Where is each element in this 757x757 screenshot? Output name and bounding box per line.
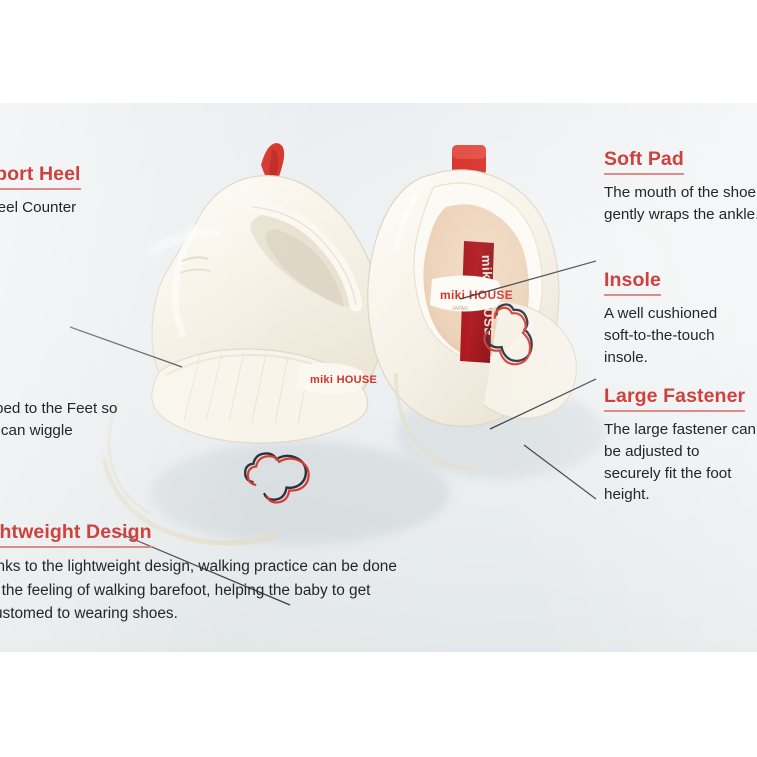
annotation-lightweight-design: Lightweight Design Thanks to the lightwe… <box>0 521 397 625</box>
annotation-body: The mouth of the shoe gently wraps the a… <box>604 182 757 225</box>
annotation-insole: Insole A well cushioned soft-to-the-touc… <box>604 269 717 368</box>
annotation-large-fastener: Large Fastener The large fastener can be… <box>604 385 756 506</box>
annotation-body: Shaped to the Feet so toes can wiggle <box>0 398 117 441</box>
svg-text:miki HOUSE: miki HOUSE <box>440 288 513 302</box>
svg-text:JAPAN: JAPAN <box>452 306 468 312</box>
annotation-soft-pad: Soft Pad The mouth of the shoe gently wr… <box>604 148 757 226</box>
annotation-title: Lightweight Design <box>0 521 152 548</box>
svg-text:miki HOUSE: miki HOUSE <box>310 374 377 386</box>
annotation-body: The large fastener can be adjusted to se… <box>604 419 756 505</box>
annotation-body: Soft heel Counter <box>0 197 81 219</box>
annotation-support-heel: Support Heel Soft heel Counter <box>0 163 81 219</box>
annotation-shaped-to-feet: Shaped to the Feet so toes can wiggle <box>0 398 117 441</box>
annotation-body: Thanks to the lightweight design, walkin… <box>0 555 397 624</box>
annotation-title: Large Fastener <box>604 385 745 412</box>
product-infographic: miki HOUSE miki HOUSE <box>0 0 757 757</box>
annotation-title: Soft Pad <box>604 148 684 175</box>
annotation-title: Insole <box>604 269 661 296</box>
annotation-body: A well cushioned soft-to-the-touch insol… <box>604 303 717 368</box>
annotation-title: Support Heel <box>0 163 81 190</box>
